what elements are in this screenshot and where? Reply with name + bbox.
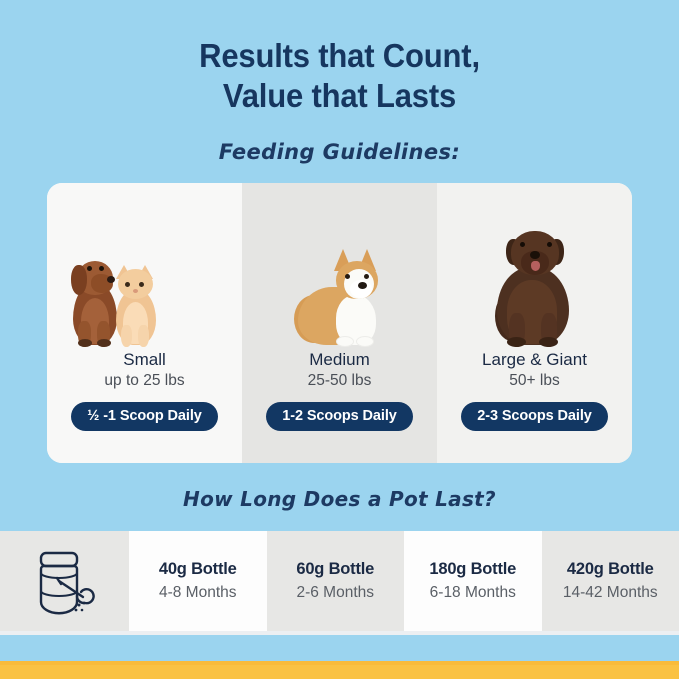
- feeding-column-large: Large & Giant 50+ lbs 2-3 Scoops Daily: [437, 183, 632, 463]
- bottle-cell-40g: 40g Bottle 4-8 Months: [129, 531, 267, 631]
- bottle-cell-420g: 420g Bottle 14-42 Months: [542, 531, 679, 631]
- size-label-medium: Medium: [309, 349, 369, 370]
- jar-with-scoop-icon: [0, 531, 129, 631]
- corgi-icon: [292, 222, 388, 347]
- size-weight-large: 50+ lbs: [509, 371, 559, 391]
- bottle-cell-60g: 60g Bottle 2-6 Months: [267, 531, 405, 631]
- page-title: Results that Count, Value that Lasts: [20, 36, 658, 116]
- scoop-badge-medium: 1-2 Scoops Daily: [266, 402, 412, 431]
- bottle-cell-180g: 180g Bottle 6-18 Months: [404, 531, 542, 631]
- scoop-badge-large: 2-3 Scoops Daily: [461, 402, 607, 431]
- bottle-size-60g: 60g Bottle: [296, 559, 374, 580]
- bottle-size-40g: 40g Bottle: [159, 559, 237, 580]
- pot-duration-title: How Long Does a Pot Last?: [0, 487, 679, 511]
- feeding-column-small: Small up to 25 lbs ½ -1 Scoop Daily: [47, 183, 242, 463]
- size-weight-medium: 25-50 lbs: [308, 371, 372, 391]
- scoop-badge-small: ½ -1 Scoop Daily: [71, 402, 217, 431]
- feeding-guidelines-subtitle: Feeding Guidelines:: [0, 140, 679, 164]
- page-title-line-2: Value that Lasts: [20, 76, 658, 116]
- bottle-duration-420g: 14-42 Months: [563, 582, 658, 603]
- corgi-image: [242, 197, 437, 347]
- feeding-guidelines-card: Small up to 25 lbs ½ -1 Scoop Daily M: [47, 183, 632, 463]
- bottle-size-180g: 180g Bottle: [429, 559, 516, 580]
- footer-strip-yellow-edge: [0, 661, 679, 665]
- page-title-line-1: Results that Count,: [20, 36, 658, 76]
- dachshund-and-cat-image: [47, 197, 242, 347]
- bottle-size-420g: 420g Bottle: [567, 559, 654, 580]
- size-label-large: Large & Giant: [482, 349, 587, 370]
- feeding-column-medium: Medium 25-50 lbs 1-2 Scoops Daily: [242, 183, 437, 463]
- bottle-duration-180g: 6-18 Months: [430, 582, 516, 603]
- divider-strip-blue: [0, 635, 679, 661]
- labrador-image: [437, 197, 632, 347]
- pot-duration-bar: 40g Bottle 4-8 Months 60g Bottle 2-6 Mon…: [0, 531, 679, 631]
- cat-icon: [110, 247, 162, 347]
- labrador-icon: [485, 207, 585, 347]
- bottle-duration-60g: 2-6 Months: [296, 582, 374, 603]
- size-label-small: Small: [123, 349, 166, 370]
- bottle-duration-40g: 4-8 Months: [159, 582, 237, 603]
- size-weight-small: up to 25 lbs: [104, 371, 184, 391]
